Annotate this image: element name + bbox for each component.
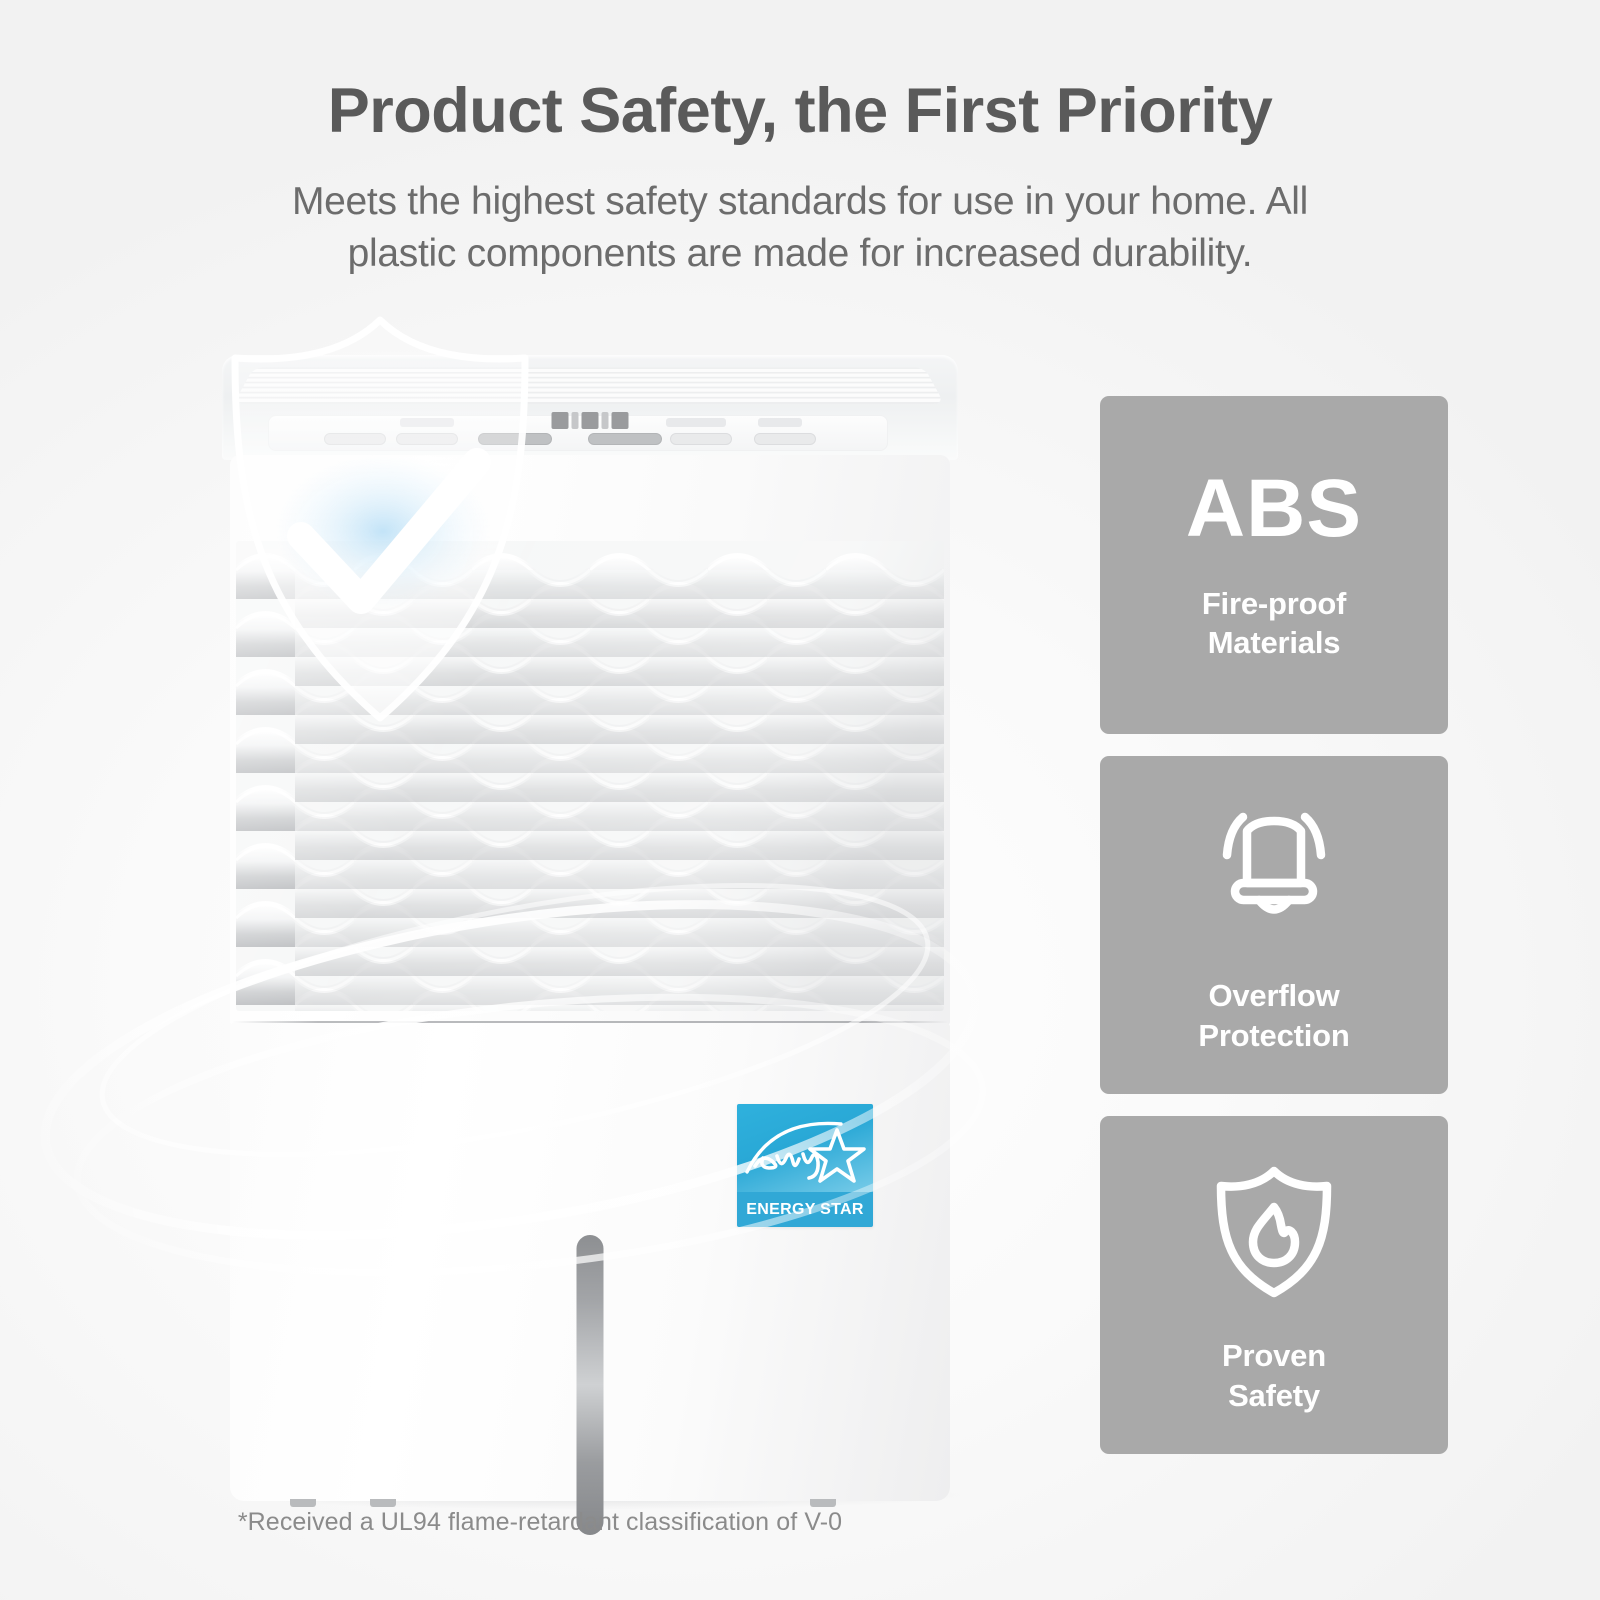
header-block: Product Safety, the First Priority Meets…: [0, 78, 1600, 281]
display-segment: [612, 412, 629, 429]
control-button-label: [666, 418, 726, 427]
product-foot: [370, 1499, 396, 1507]
control-button-filter[interactable]: [396, 433, 458, 445]
energy-star-label: ENERGY STAR: [746, 1201, 863, 1219]
display-segment: [552, 412, 569, 429]
control-button-fan-speed[interactable]: [670, 433, 732, 445]
control-button-minus[interactable]: [478, 433, 552, 445]
abs-material-text: ABS: [1186, 468, 1362, 550]
feature-card-list: ABS Fire-proof Materials Overflow Protec…: [1100, 396, 1448, 1454]
display-segment: [602, 412, 609, 429]
control-panel-display: [552, 412, 629, 429]
product-foot: [810, 1499, 836, 1507]
feature-label-line2: Safety: [1222, 1376, 1326, 1415]
page-subheadline: Meets the highest safety standards for u…: [235, 176, 1365, 281]
top-louver-vents-icon: [234, 367, 945, 404]
feature-card-fireproof[interactable]: ABS Fire-proof Materials: [1100, 396, 1448, 734]
feature-card-proven-safety[interactable]: Proven Safety: [1100, 1116, 1448, 1454]
footnote-text: *Received a UL94 flame-retardant classif…: [0, 1508, 1080, 1537]
dehumidifier-product-image: TOSOT: [210, 355, 970, 1515]
feature-label-line1: Fire-proof: [1202, 584, 1346, 623]
display-segment: [572, 412, 579, 429]
control-button-plus[interactable]: [588, 433, 662, 445]
shield-flame-icon: [1199, 1155, 1349, 1310]
display-segment: [582, 412, 599, 429]
air-intake-grille: [236, 541, 944, 1011]
control-button-timer[interactable]: [754, 433, 816, 445]
energy-star-badge: ENERGY STAR: [737, 1104, 873, 1227]
energy-star-logo-icon: [737, 1104, 873, 1192]
feature-label-line1: Proven: [1222, 1336, 1326, 1375]
control-button-label: [400, 418, 454, 427]
feature-card-overflow-protection[interactable]: Overflow Protection: [1100, 756, 1448, 1094]
water-level-window: [577, 1235, 604, 1535]
control-button-label: [758, 418, 802, 427]
energy-star-label-bar: ENERGY STAR: [737, 1192, 873, 1227]
feature-label-line2: Materials: [1202, 623, 1346, 662]
ringing-bell-icon: [1199, 795, 1349, 950]
grille-mesh-pattern: [236, 541, 944, 1011]
feature-label-line1: Overflow: [1198, 976, 1349, 1015]
product-foot: [290, 1499, 316, 1507]
page-headline: Product Safety, the First Priority: [0, 78, 1600, 144]
feature-label-line2: Protection: [1198, 1016, 1349, 1055]
control-button-power[interactable]: [324, 433, 386, 445]
